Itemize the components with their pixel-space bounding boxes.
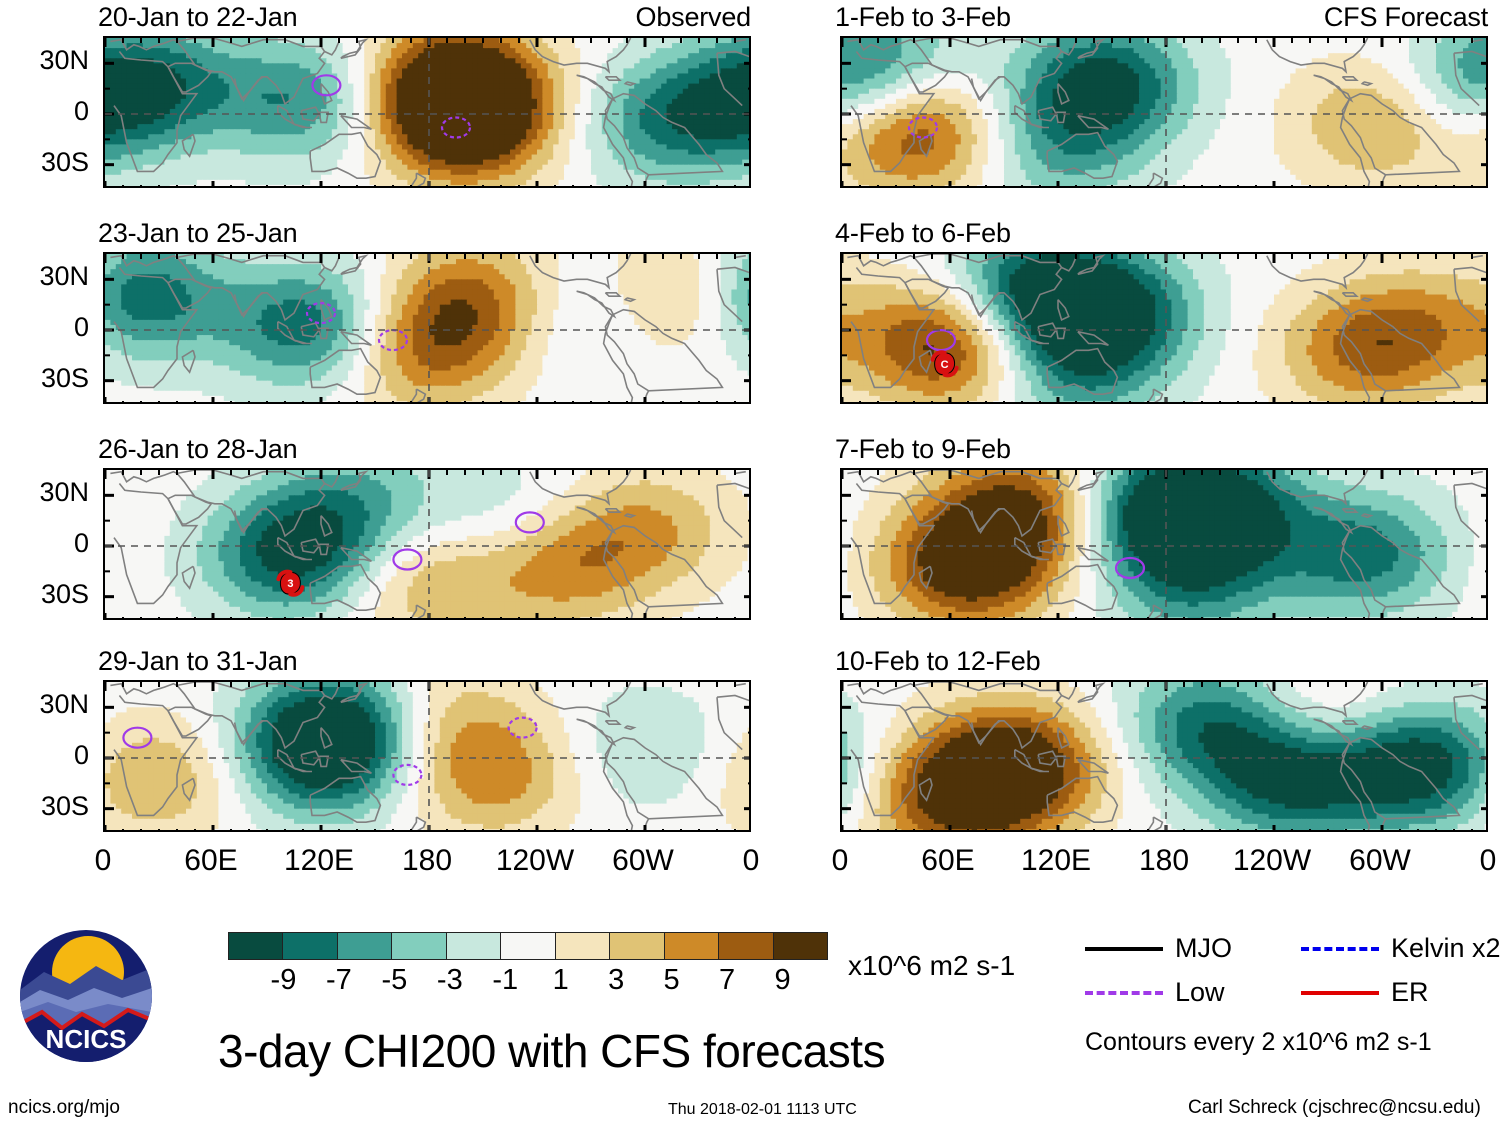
y-tick-label-p4-0: 30N (0, 691, 89, 718)
field-shading-p7 (842, 470, 1488, 620)
legend-label-3: ER (1391, 979, 1429, 1006)
x-tick-label-right-5: 60W (1330, 846, 1430, 876)
colorbar-tick-9: 9 (753, 966, 813, 995)
colorbar-swatch-9 (718, 932, 773, 960)
column-header-right: CFS Forecast (1288, 4, 1488, 31)
y-tick-label-p2-1: 0 (0, 314, 89, 341)
x-tick-label-right-4: 120W (1222, 846, 1322, 876)
map-panel-p3: 3 (103, 468, 751, 620)
field-shading-p6 (842, 254, 1488, 404)
legend-entry-er: ER (1301, 979, 1429, 1006)
legend-line-icon-2 (1085, 991, 1163, 995)
colorbar-swatch-0 (228, 932, 283, 960)
colorbar-swatch-6 (555, 932, 610, 960)
colorbar-swatch-8 (664, 932, 719, 960)
legend-line-icon-0 (1085, 947, 1163, 951)
colorbar-tick-5: 1 (531, 966, 591, 995)
map-panel-p6: C (840, 252, 1488, 404)
x-tick-label-right-6: 0 (1438, 846, 1510, 876)
field-shading-p2 (105, 254, 751, 404)
y-tick-label-p3-2: 30S (0, 581, 89, 608)
y-tick-label-p1-2: 30S (0, 149, 89, 176)
ncics-logo: NCICS (18, 928, 154, 1064)
colorbar-swatch-5 (500, 932, 555, 960)
colorbar (228, 932, 838, 962)
map-panel-p1 (103, 36, 751, 188)
x-tick-label-left-0: 0 (53, 846, 153, 876)
y-tick-label-p4-1: 0 (0, 742, 89, 769)
x-tick-label-left-1: 60E (161, 846, 261, 876)
map-panel-p2 (103, 252, 751, 404)
colorbar-tick-2: -5 (364, 966, 424, 995)
colorbar-tick-4: -1 (475, 966, 535, 995)
panel-title-p6: 4-Feb to 6-Feb (835, 220, 1011, 247)
y-tick-label-p4-2: 30S (0, 793, 89, 820)
colorbar-swatch-7 (609, 932, 664, 960)
footer-site-link[interactable]: ncics.org/mjo (8, 1098, 120, 1117)
x-tick-label-left-2: 120E (269, 846, 369, 876)
panel-title-p3: 26-Jan to 28-Jan (98, 436, 297, 463)
ncics-logo-text: NCICS (46, 1024, 127, 1054)
colorbar-swatch-4 (446, 932, 501, 960)
footer-credit: Carl Schreck (cjschrec@ncsu.edu) (1188, 1098, 1481, 1117)
panel-title-p4: 29-Jan to 31-Jan (98, 648, 297, 675)
colorbar-tick-8: 7 (697, 966, 757, 995)
panel-title-p1: 20-Jan to 22-Jan (98, 4, 297, 31)
colorbar-tick-3: -3 (420, 966, 480, 995)
contour-interval-note: Contours every 2 x10^6 m2 s-1 (1085, 1030, 1432, 1055)
colorbar-swatch-2 (337, 932, 392, 960)
x-tick-label-right-3: 180 (1114, 846, 1214, 876)
x-tick-label-left-6: 0 (701, 846, 801, 876)
y-tick-label-p3-1: 0 (0, 530, 89, 557)
colorbar-tick-6: 3 (586, 966, 646, 995)
colorbar-swatch-3 (391, 932, 446, 960)
map-panel-p7 (840, 468, 1488, 620)
colorbar-tick-1: -7 (309, 966, 369, 995)
field-shading-p4 (105, 682, 751, 832)
colorbar-tick-0: -9 (253, 966, 313, 995)
panel-title-p2: 23-Jan to 25-Jan (98, 220, 297, 247)
footer-timestamp: Thu 2018-02-01 1113 UTC (668, 1100, 857, 1119)
field-shading-p5 (842, 38, 1488, 188)
legend-line-icon-1 (1301, 947, 1379, 951)
figure-title: 3-day CHI200 with CFS forecasts (218, 1028, 885, 1074)
colorbar-swatch-10 (773, 932, 828, 960)
panel-title-p5: 1-Feb to 3-Feb (835, 4, 1011, 31)
legend-entry-kelvin-x2: Kelvin x2 (1301, 935, 1501, 962)
map-panel-p4 (103, 680, 751, 832)
panel-title-p7: 7-Feb to 9-Feb (835, 436, 1011, 463)
wave-legend: MJOKelvin x2LowER (1085, 935, 1505, 1015)
map-panel-p8 (840, 680, 1488, 832)
x-tick-label-right-1: 60E (898, 846, 998, 876)
y-tick-label-p2-0: 30N (0, 263, 89, 290)
legend-label-1: Kelvin x2 (1391, 935, 1501, 962)
field-shading-p3 (105, 470, 751, 620)
column-header-left: Observed (551, 4, 751, 31)
panel-title-p8: 10-Feb to 12-Feb (835, 648, 1040, 675)
y-tick-label-p1-0: 30N (0, 47, 89, 74)
legend-label-0: MJO (1175, 935, 1232, 962)
y-tick-label-p3-0: 30N (0, 479, 89, 506)
x-tick-label-right-0: 0 (790, 846, 890, 876)
y-tick-label-p1-1: 0 (0, 98, 89, 125)
colorbar-swatch-1 (282, 932, 337, 960)
legend-line-icon-3 (1301, 991, 1379, 995)
y-tick-label-p2-2: 30S (0, 365, 89, 392)
map-panel-p5 (840, 36, 1488, 188)
x-tick-label-left-5: 60W (593, 846, 693, 876)
field-shading-p1 (105, 38, 751, 188)
x-tick-label-right-2: 120E (1006, 846, 1106, 876)
x-tick-label-left-3: 180 (377, 846, 477, 876)
legend-label-2: Low (1175, 979, 1225, 1006)
legend-entry-low: Low (1085, 979, 1225, 1006)
legend-entry-mjo: MJO (1085, 935, 1232, 962)
colorbar-units-label: x10^6 m2 s-1 (848, 952, 1015, 980)
colorbar-tick-7: 5 (642, 966, 702, 995)
field-shading-p8 (842, 682, 1488, 832)
x-tick-label-left-4: 120W (485, 846, 585, 876)
